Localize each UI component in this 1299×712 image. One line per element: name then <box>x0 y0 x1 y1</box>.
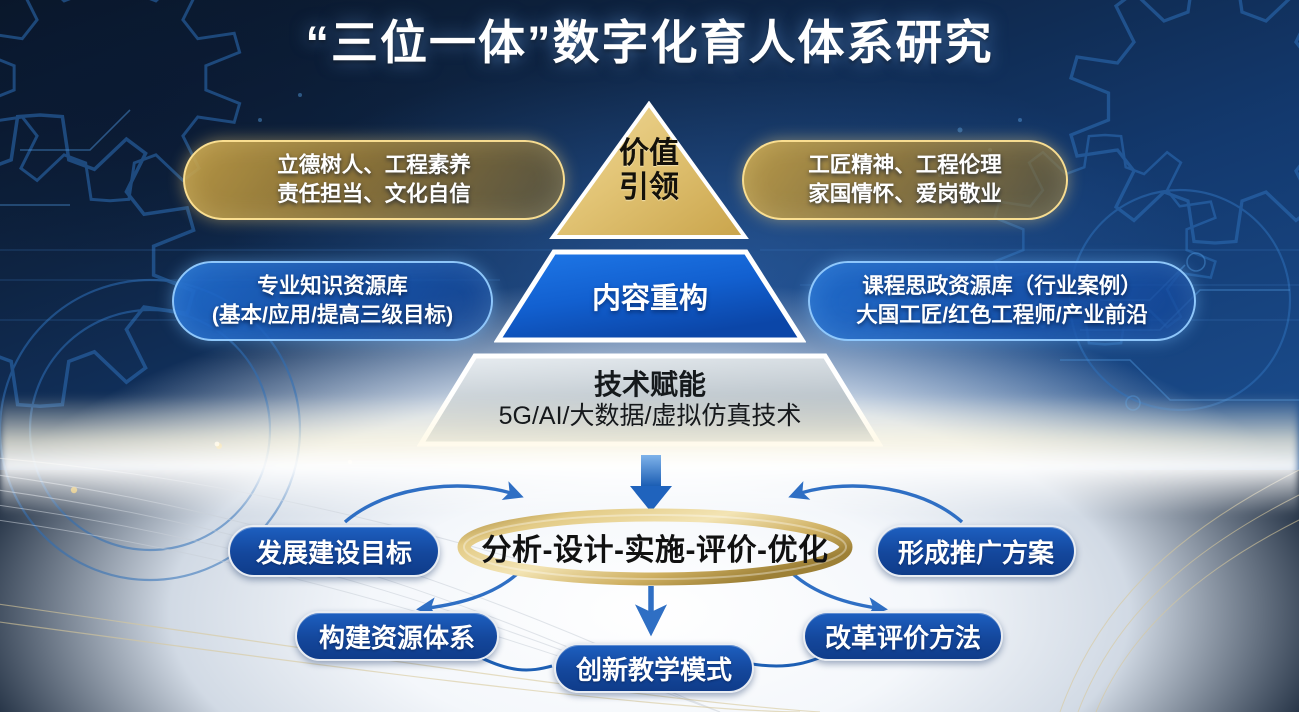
core-cycle-ellipse[interactable]: 分析-设计-实施-评价-优化 <box>455 508 855 586</box>
connector-arrows <box>0 0 1299 712</box>
node-promote[interactable]: 形成推广方案 <box>876 525 1076 577</box>
tier-title: 技术赋能 <box>499 368 802 402</box>
node-evaluation[interactable]: 改革评价方法 <box>803 611 1003 661</box>
core-label: 分析-设计-实施-评价-优化 <box>482 525 829 569</box>
node-label: 发展建设目标 <box>256 533 412 570</box>
node-goal[interactable]: 发展建设目标 <box>228 525 440 577</box>
tier-subtitle: 5G/AI/大数据/虚拟仿真技术 <box>499 401 802 432</box>
tier-title-line2: 引领 <box>619 171 679 205</box>
node-resource[interactable]: 构建资源体系 <box>295 611 499 661</box>
arrow-pyramid-to-core <box>630 455 672 512</box>
node-label: 改革评价方法 <box>825 618 981 655</box>
node-label: 形成推广方案 <box>898 533 1054 570</box>
infographic-canvas: “三位一体”数字化育人体系研究 价值 引领 <box>0 0 1299 712</box>
tier-title: 内容重构 <box>592 275 708 317</box>
node-label: 创新教学模式 <box>576 650 732 687</box>
node-teaching[interactable]: 创新教学模式 <box>554 643 754 693</box>
node-label: 构建资源体系 <box>319 618 475 655</box>
tier-title: 价值 <box>619 137 679 171</box>
